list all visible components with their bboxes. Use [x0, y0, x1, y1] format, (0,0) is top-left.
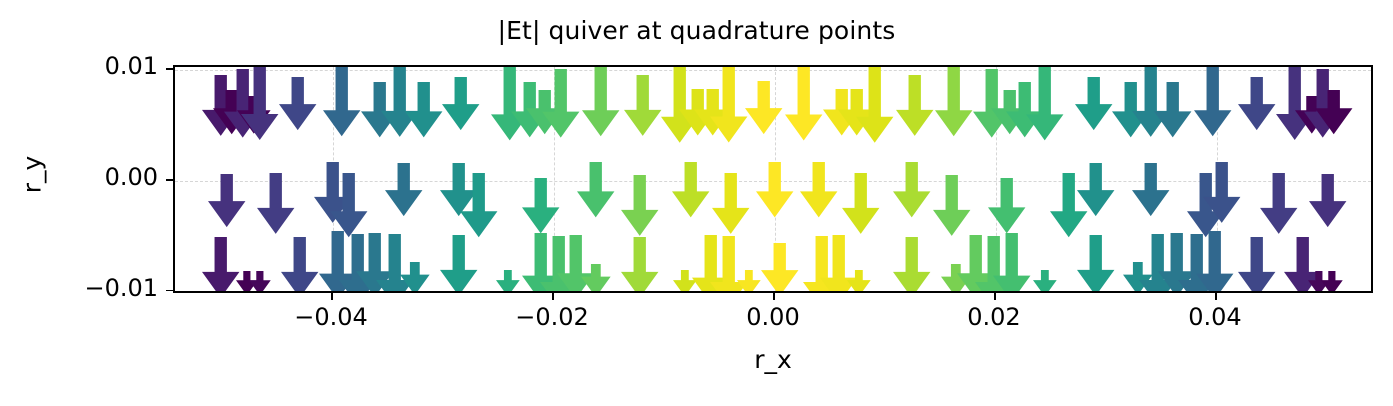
- quiver-arrow: [855, 65, 894, 144]
- quiver-arrow: [384, 163, 423, 218]
- quiver-arrow: [404, 82, 443, 139]
- quiver-arrow: [495, 270, 521, 293]
- quiver-arrow: [1076, 163, 1115, 218]
- x-tick-label-2: 0.00: [683, 303, 863, 331]
- quiver-arrow: [736, 270, 762, 293]
- quiver-arrow: [576, 162, 615, 219]
- x-tick-label-1: −0.02: [462, 303, 642, 331]
- quiver-arrow: [1314, 90, 1353, 136]
- y-tick-0: [166, 68, 173, 70]
- figure-canvas: |Et| quiver at quadrature points −0.04−0…: [0, 0, 1393, 406]
- y-tick-label-2: −0.01: [8, 274, 158, 302]
- quiver-arrow: [932, 175, 971, 238]
- quiver-arrow: [240, 65, 279, 142]
- x-tick-0: [331, 293, 333, 300]
- quiver-arrow: [322, 65, 361, 139]
- quiver-arrow: [895, 75, 934, 138]
- quiver-arrow: [846, 270, 872, 293]
- quiver-arrow: [1076, 235, 1115, 293]
- quiver-arrow: [620, 175, 659, 238]
- quiver-arrow: [760, 243, 799, 293]
- quiver-arrow: [1320, 271, 1344, 293]
- quiver-arrow: [1193, 65, 1232, 139]
- x-tick-1: [552, 293, 554, 300]
- y-tick-label-0: 0.01: [8, 52, 158, 80]
- quiver-arrow: [1237, 77, 1276, 132]
- quiver-arrow: [784, 65, 823, 142]
- quiver-arrow: [744, 81, 783, 136]
- quiver-arrow: [1195, 231, 1234, 293]
- quiver-arrow: [541, 69, 580, 140]
- quiver-arrow: [892, 162, 931, 219]
- quiver-arrow: [1032, 270, 1058, 293]
- quiver-arrow: [711, 173, 750, 236]
- y-tick-2: [166, 290, 173, 292]
- quiver-arrow: [1131, 163, 1170, 218]
- x-axis-label: r_x: [173, 345, 1373, 374]
- quiver-arrow: [1202, 162, 1241, 225]
- quiver-arrow: [329, 173, 368, 239]
- x-tick-label-0: −0.04: [241, 303, 421, 331]
- x-tick-label-4: 0.04: [1125, 303, 1305, 331]
- quiver-arrow: [280, 237, 319, 293]
- quiver-arrow: [439, 235, 478, 293]
- quiver-arrow: [1237, 237, 1276, 293]
- quiver-arrow: [399, 262, 431, 293]
- quiver-arrow: [1308, 174, 1347, 229]
- quiver-arrow: [248, 271, 272, 293]
- x-tick-4: [1215, 293, 1217, 300]
- x-tick-3: [994, 293, 996, 300]
- quiver-arrow: [934, 65, 973, 139]
- quiver-arrow: [992, 233, 1031, 293]
- quiver-arrow: [671, 162, 710, 219]
- y-axis-label: r_y: [18, 105, 47, 245]
- quiver-arrow: [1074, 77, 1113, 132]
- x-tick-2: [773, 293, 775, 300]
- x-tick-label-3: 0.02: [904, 303, 1084, 331]
- quiver-arrow: [709, 65, 748, 144]
- quiver-arrow: [892, 237, 931, 293]
- quiver-arrow: [1259, 173, 1298, 236]
- y-tick-1: [166, 179, 173, 181]
- quiver-arrow: [207, 174, 246, 229]
- quiver-arrow: [459, 173, 498, 239]
- quiver-arrow: [987, 178, 1026, 235]
- quiver-arrow: [581, 65, 620, 139]
- quiver-arrow: [256, 173, 295, 236]
- chart-title: |Et| quiver at quadrature points: [0, 16, 1393, 45]
- quiver-arrow: [755, 162, 794, 219]
- quiver-arrow: [841, 173, 880, 236]
- quiver-arrow: [580, 264, 612, 293]
- quiver-arrow: [441, 77, 480, 132]
- quiver-arrow: [623, 75, 662, 138]
- quiver-arrow: [799, 162, 838, 219]
- quiver-arrow: [278, 77, 317, 132]
- quiver-arrow: [1153, 82, 1192, 139]
- quiver-arrow: [521, 178, 560, 235]
- plot-axes: [173, 65, 1373, 293]
- quiver-arrow: [1025, 65, 1064, 142]
- quiver-arrow: [620, 237, 659, 293]
